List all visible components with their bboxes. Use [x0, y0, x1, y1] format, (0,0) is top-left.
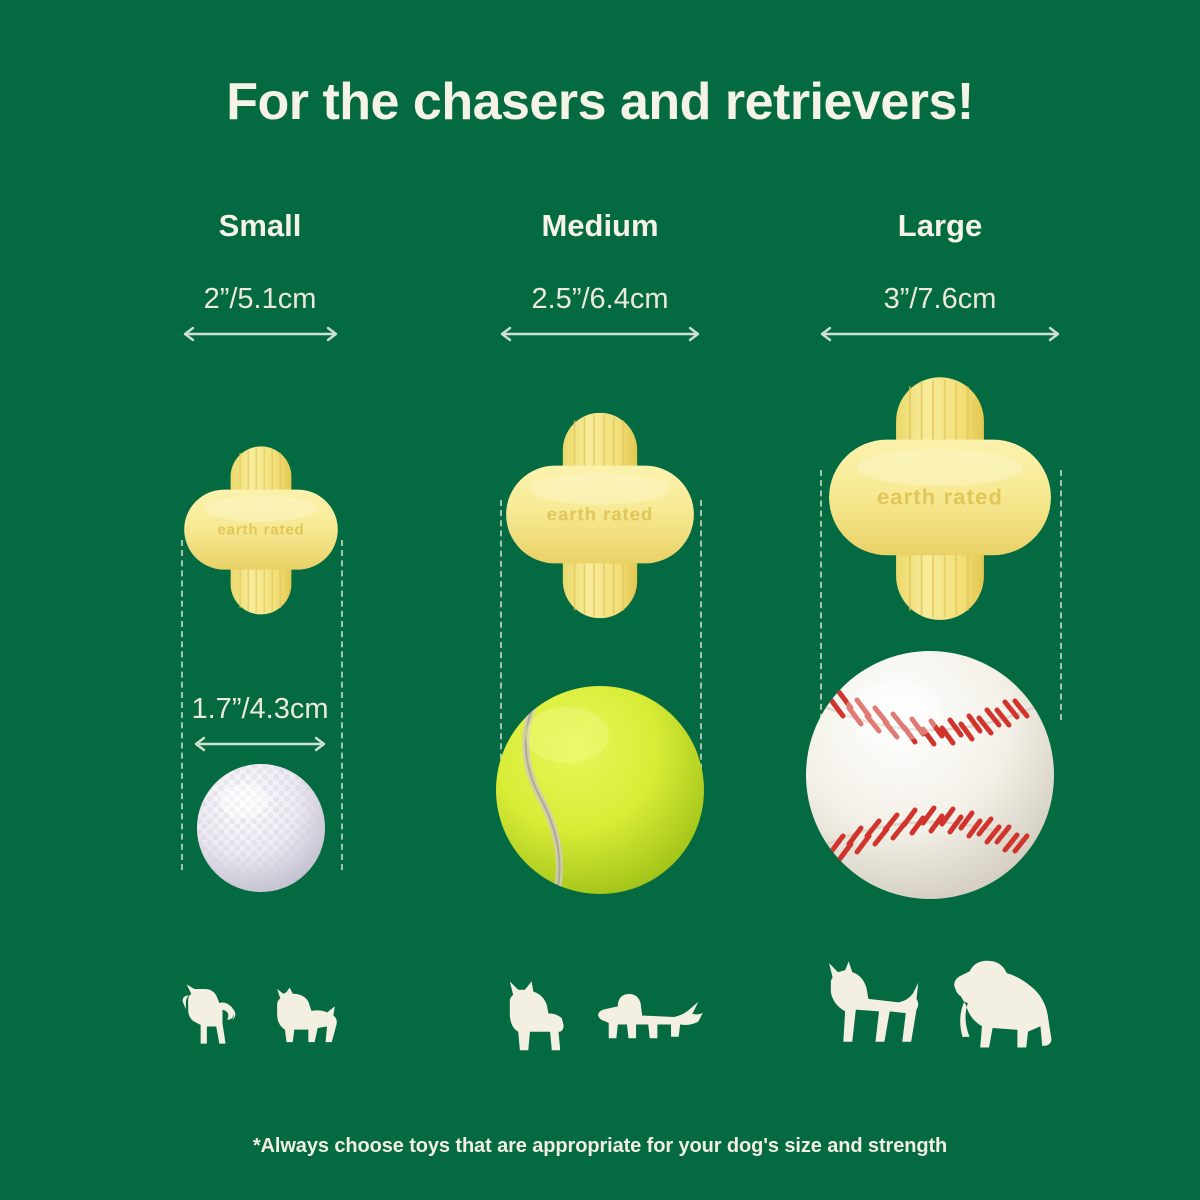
size-column-small: Small 2”/5.1cm [80, 0, 440, 1200]
tennis-ball-icon [495, 685, 705, 895]
brand-emboss-small: earth rated [217, 521, 304, 538]
toy-measurement-label-medium: 2.5”/6.4cm [420, 285, 780, 314]
ball-small [196, 763, 326, 893]
measurement-arrow-small [80, 326, 440, 344]
retriever-silhouette-icon [943, 950, 1067, 1060]
toy-large: earth rated [820, 368, 1060, 628]
chihuahua-silhouette-icon [171, 975, 249, 1053]
cross-shaped-rubber-toy-icon: earth rated [181, 440, 341, 620]
size-heading-small: Small [80, 208, 440, 244]
dog-silhouettes-large [760, 950, 1120, 1060]
size-heading-medium: Medium [420, 208, 780, 244]
double-arrow-icon [190, 736, 330, 752]
footnote-disclaimer: *Always choose toys that are appropriate… [0, 1135, 1200, 1158]
dachshund-silhouette-icon [591, 982, 707, 1058]
size-comparison-infographic: For the chasers and retrievers! Small 2”… [0, 0, 1200, 1200]
size-heading-large: Large [760, 208, 1120, 244]
ball-large [805, 650, 1055, 900]
terrier-silhouette-icon [263, 975, 349, 1053]
toy-measurement-medium: 2.5”/6.4cm [420, 285, 780, 344]
measurement-arrow-medium [420, 326, 780, 344]
ball-measurement-small: 1.7”/4.3cm [80, 695, 440, 754]
golf-ball-icon [196, 763, 326, 893]
double-arrow-icon [496, 326, 704, 342]
size-column-medium: Medium 2.5”/6.4cm [420, 0, 780, 1200]
ball-measurement-label-small: 1.7”/4.3cm [80, 695, 440, 724]
baseball-icon [805, 650, 1055, 900]
double-arrow-icon [816, 326, 1064, 342]
toy-measurement-label-large: 3”/7.6cm [760, 285, 1120, 314]
ball-medium [495, 685, 705, 895]
brand-emboss-large: earth rated [877, 484, 1003, 509]
measurement-arrow-large [760, 326, 1120, 344]
toy-measurement-label-small: 2”/5.1cm [80, 285, 440, 314]
boxer-silhouette-icon [813, 952, 929, 1060]
brand-emboss-medium: earth rated [547, 503, 654, 524]
toy-measurement-large: 3”/7.6cm [760, 285, 1120, 344]
double-arrow-icon [179, 326, 342, 342]
toy-measurement-small: 2”/5.1cm [80, 285, 440, 344]
cross-shaped-rubber-toy-icon: earth rated [820, 368, 1060, 628]
ball-measurement-arrow-small [80, 736, 440, 754]
dog-silhouettes-medium [420, 972, 780, 1058]
size-column-large: Large 3”/7.6cm [760, 0, 1120, 1200]
size-columns: Small 2”/5.1cm [0, 0, 1200, 1200]
bulldog-silhouette-icon [493, 972, 577, 1058]
toy-medium: earth rated [500, 405, 700, 625]
guide-line-right-large [1060, 470, 1062, 720]
dog-silhouettes-small [80, 975, 440, 1053]
cross-shaped-rubber-toy-icon: earth rated [500, 405, 700, 625]
toy-small: earth rated [181, 440, 341, 620]
